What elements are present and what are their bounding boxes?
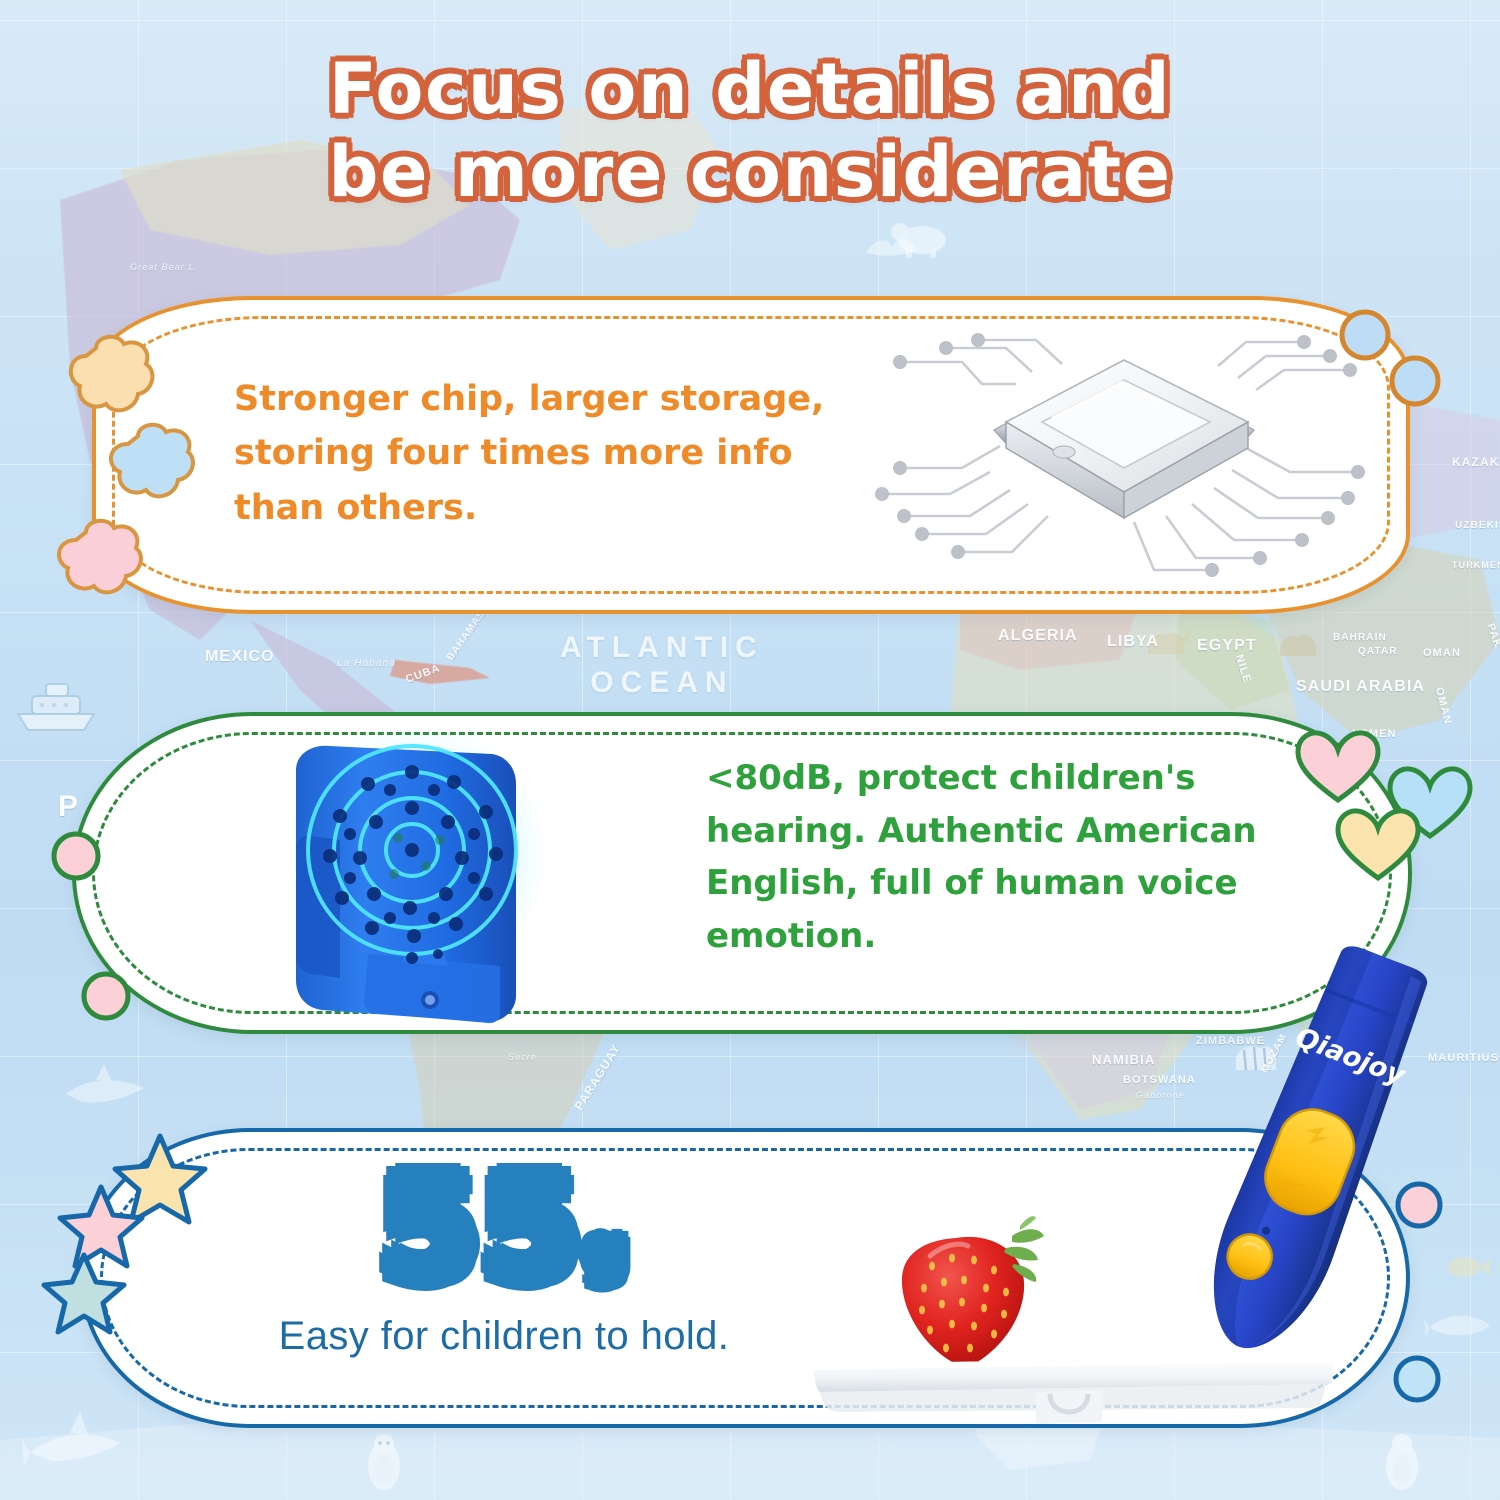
page-title: Focus on details and be more considerate	[0, 48, 1500, 213]
country-label: QATAR	[1358, 646, 1398, 657]
ship-sprite	[10, 672, 102, 736]
country-label: Great Bear L.	[130, 262, 198, 272]
country-label: MEXICO	[205, 648, 275, 666]
feature-card-chip: Stronger chip, larger storage, storing f…	[92, 296, 1410, 614]
heart-yellow-decor	[1332, 804, 1424, 886]
cloud-peach-decor	[56, 330, 166, 434]
weight-block: 55g Easy for children to hold.	[224, 1160, 784, 1359]
weight-unit: g	[583, 1219, 627, 1281]
penguin-sprite	[360, 1432, 408, 1492]
country-label: La Habana	[337, 658, 396, 669]
country-label: ALGERIA	[998, 627, 1078, 645]
reading-pen-image: Qiaojoy	[1160, 940, 1450, 1380]
penguin-sprite-2	[1378, 1432, 1426, 1492]
microchip-image	[866, 326, 1386, 592]
country-label: KAZAKHSTAN	[1452, 455, 1500, 469]
country-label: BAHRAIN	[1333, 632, 1387, 643]
country-label: TURKMENISTAN	[1452, 560, 1500, 570]
star-teal-decor	[40, 1250, 128, 1336]
country-label: SAUDI ARABIA	[1296, 678, 1425, 696]
shark-sprite	[22, 1405, 132, 1477]
ocean-label: ATLANTIC OCEAN	[560, 630, 764, 701]
card1-text: Stronger chip, larger storage, storing f…	[234, 372, 834, 535]
circle-pink-decor-1	[48, 828, 104, 884]
title-line-1: Focus on details and	[0, 48, 1500, 131]
country-label: OMAN	[1423, 647, 1461, 659]
country-label: LIBYA	[1107, 633, 1159, 651]
weight-caption: Easy for children to hold.	[224, 1314, 784, 1359]
circle-blue-decor-2	[1386, 352, 1444, 410]
shark-sprite-2	[60, 1060, 150, 1114]
cloud-blue-decor	[100, 420, 204, 516]
card2-text: <80dB, protect children's hearing. Authe…	[706, 752, 1296, 963]
country-label: NAMIBIA	[1092, 1052, 1155, 1067]
circle-pink-decor-2	[78, 968, 134, 1024]
weight-readout: 55g	[224, 1160, 784, 1300]
cloud-pink-decor	[48, 516, 154, 614]
country-label: P	[58, 790, 79, 824]
weight-number: 55	[380, 1160, 583, 1300]
country-label: EGYPT	[1197, 637, 1257, 655]
infographic-root: ATLANTIC OCEANMEXICOCUBABAHAMASLa Habana…	[0, 0, 1500, 1500]
title-line-2: be more considerate	[0, 131, 1500, 214]
country-label: UZBEKISTAN	[1455, 520, 1500, 531]
heart-pink-decor	[1292, 726, 1384, 808]
camel-sprite-2	[1272, 618, 1324, 662]
country-label: Sucre	[508, 1052, 537, 1062]
speaker-grille-image	[248, 728, 578, 1038]
bird-sprite	[862, 230, 922, 270]
